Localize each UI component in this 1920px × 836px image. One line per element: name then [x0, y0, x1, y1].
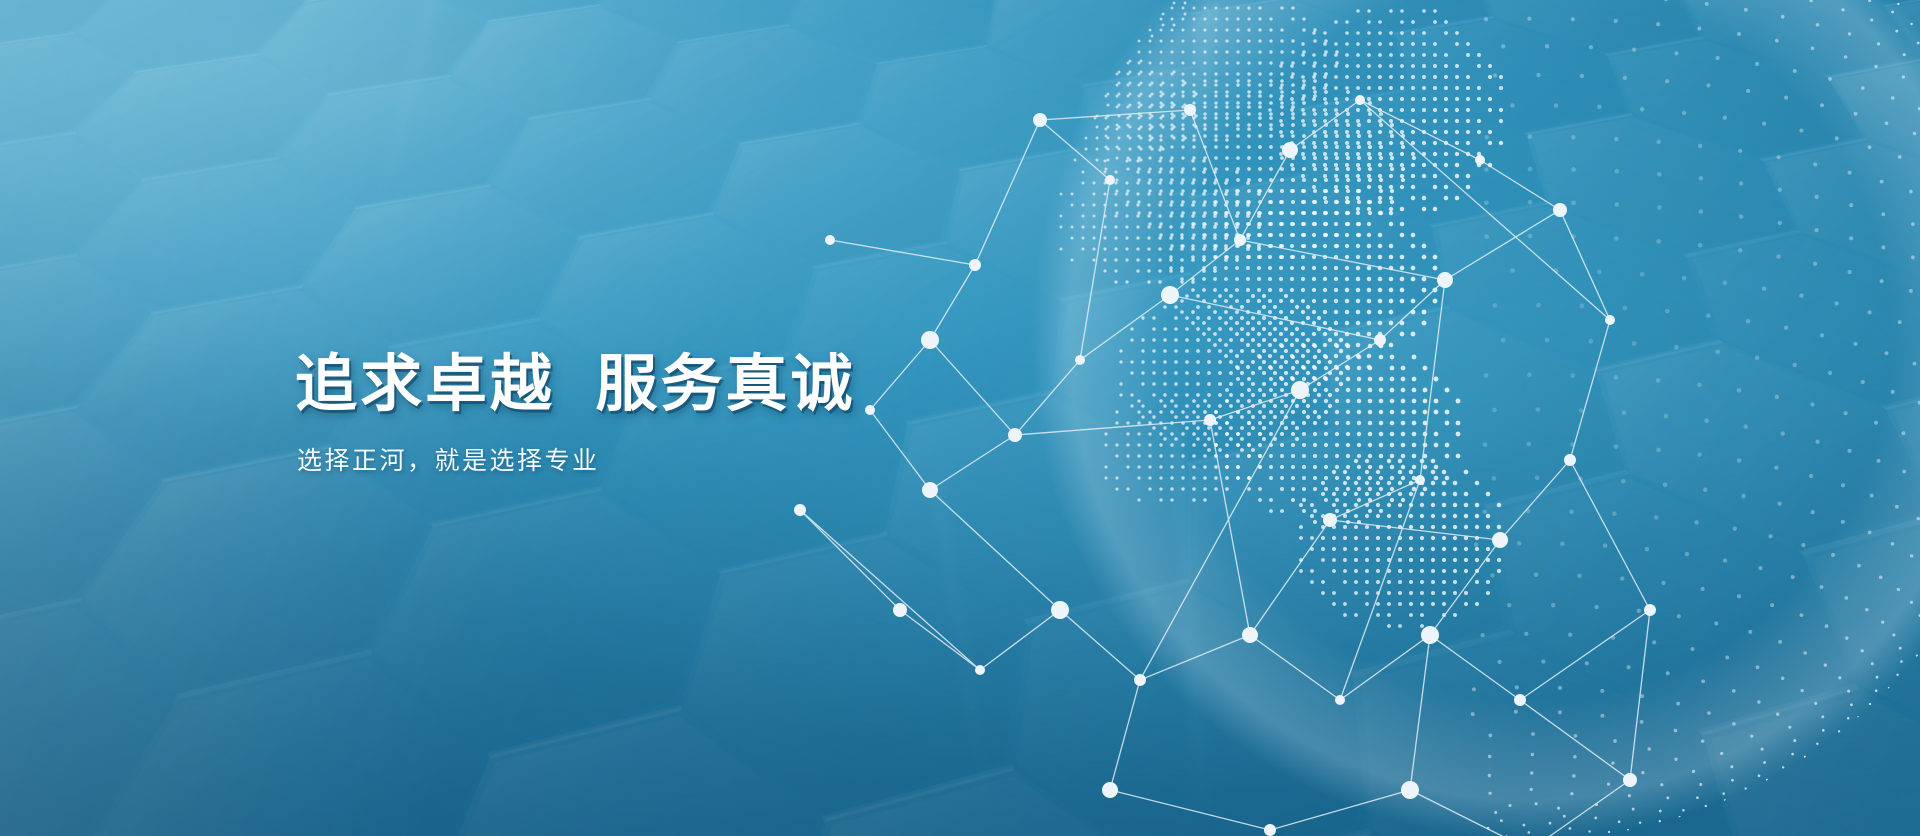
hero-copy: 追求卓越 服务真诚 选择正河，就是选择专业	[295, 352, 1055, 477]
page-subtitle: 选择正河，就是选择专业	[297, 441, 1055, 477]
page-title: 追求卓越 服务真诚	[295, 352, 1055, 419]
hero-banner: 追求卓越 服务真诚 选择正河，就是选择专业	[0, 0, 1920, 836]
